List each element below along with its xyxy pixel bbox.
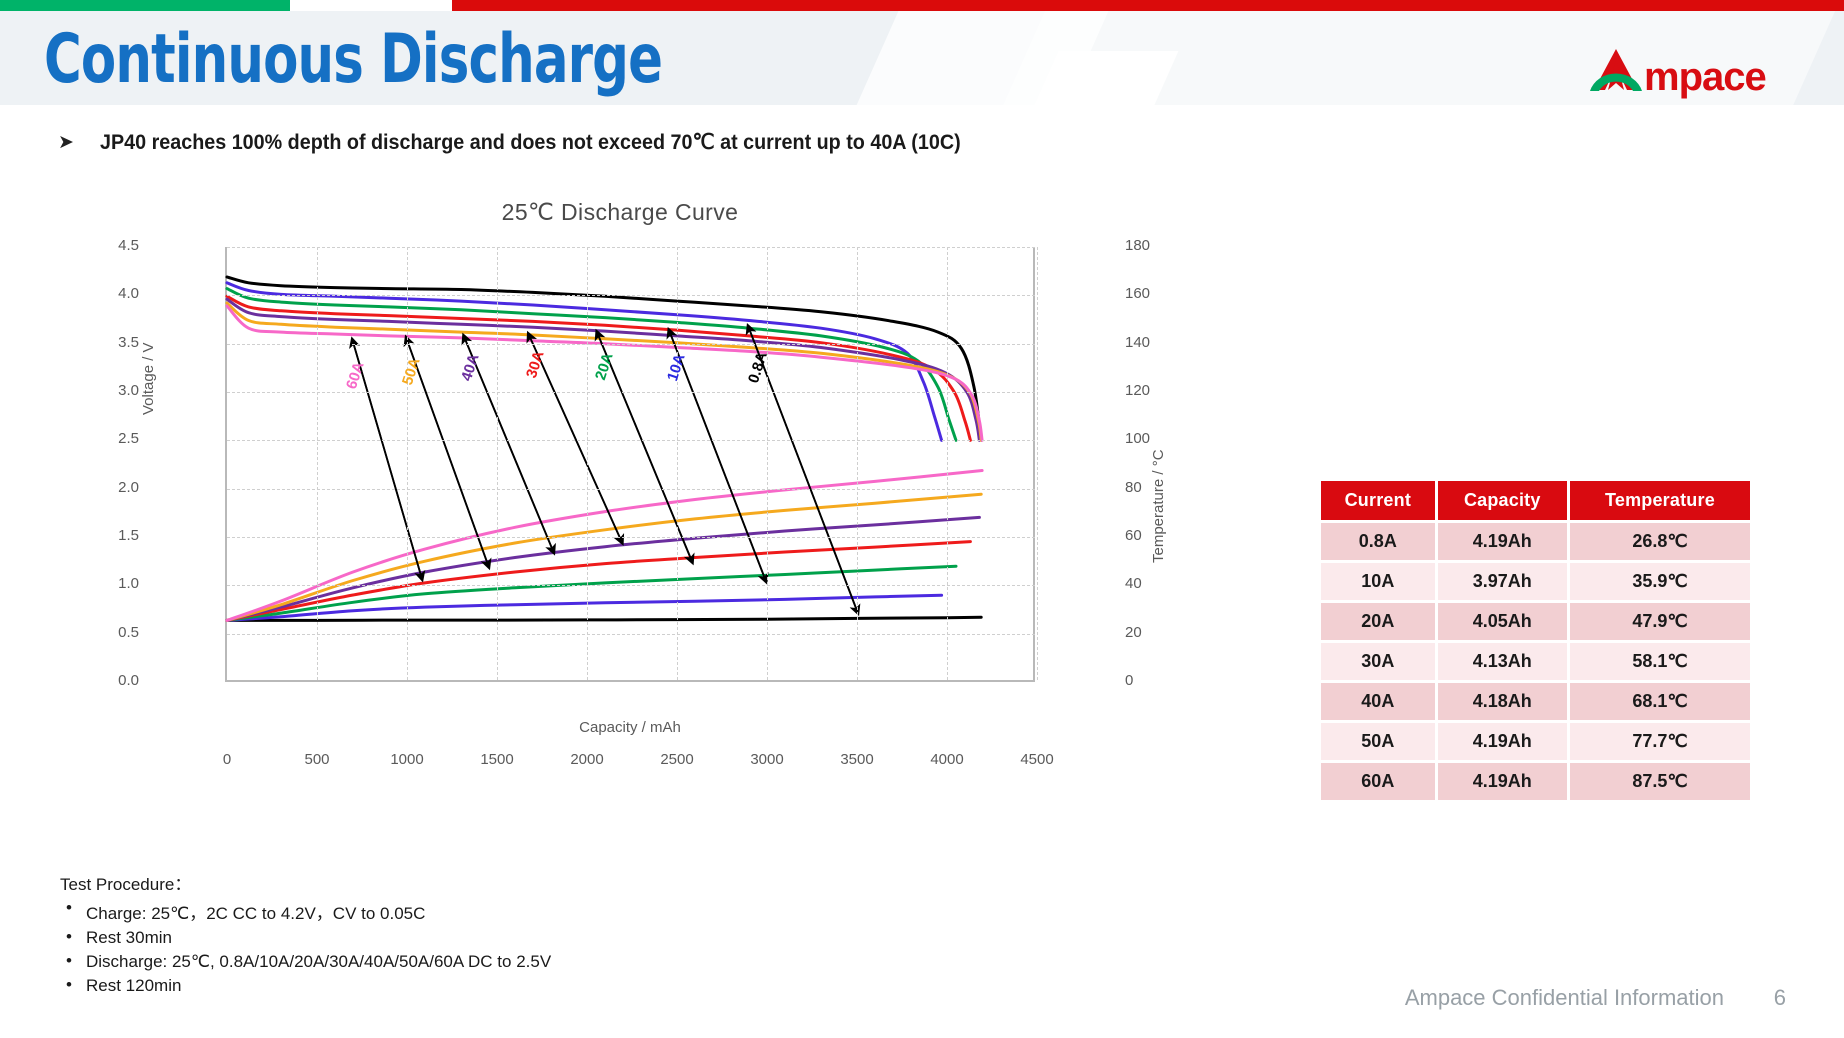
gridline-horizontal xyxy=(227,295,1035,296)
x-axis-tick: 1500 xyxy=(457,751,537,768)
y2-axis-tick: 20 xyxy=(1125,624,1185,641)
gridline-horizontal xyxy=(227,585,1035,586)
table-row: 20A4.05Ah47.9℃ xyxy=(1321,603,1750,640)
gridline-vertical xyxy=(677,247,678,680)
table-cell: 0.8A xyxy=(1321,523,1435,560)
table-cell: 4.05Ah xyxy=(1438,603,1567,640)
y-axis-tick: 2.0 xyxy=(79,479,139,496)
test-procedure-item: Discharge: 25℃, 0.8A/10A/20A/30A/40A/50A… xyxy=(60,952,551,972)
gridline-vertical xyxy=(947,247,948,680)
y2-axis-tick: 160 xyxy=(1125,285,1185,302)
x-axis-tick: 3000 xyxy=(727,751,807,768)
gridline-vertical xyxy=(857,247,858,680)
gridline-vertical xyxy=(587,247,588,680)
page-title: Continuous Discharge xyxy=(44,23,662,97)
band-green xyxy=(0,0,290,11)
y-axis-tick: 3.5 xyxy=(79,334,139,351)
gridline-horizontal xyxy=(227,247,1035,248)
x-axis-tick: 4500 xyxy=(997,751,1077,768)
table-cell: 30A xyxy=(1321,643,1435,680)
test-procedure-title: Test Procedure： xyxy=(60,870,551,895)
test-procedure-item: Rest 120min xyxy=(60,976,551,996)
top-color-bands xyxy=(0,0,1844,11)
table-header-temperature: Temperature xyxy=(1570,481,1750,520)
table-row: 30A4.13Ah58.1℃ xyxy=(1321,643,1750,680)
gridline-horizontal xyxy=(227,634,1035,635)
y-axis-tick: 2.5 xyxy=(79,430,139,447)
table-cell: 4.18Ah xyxy=(1438,683,1567,720)
y-axis-label: Voltage / V xyxy=(140,342,157,415)
table-row: 40A4.18Ah68.1℃ xyxy=(1321,683,1750,720)
table-cell: 68.1℃ xyxy=(1570,683,1750,720)
table-header-current: Current xyxy=(1321,481,1435,520)
gridline-horizontal xyxy=(227,344,1035,345)
x-axis-label: Capacity / mAh xyxy=(225,719,1035,736)
table-cell: 87.5℃ xyxy=(1570,763,1750,800)
bullet-text: JP40 reaches 100% depth of discharge and… xyxy=(100,130,961,155)
table-row: 50A4.19Ah77.7℃ xyxy=(1321,723,1750,760)
summary-table: Current Capacity Temperature 0.8A4.19Ah2… xyxy=(1318,478,1753,803)
table-row: 0.8A4.19Ah26.8℃ xyxy=(1321,523,1750,560)
y-axis-tick: 1.0 xyxy=(79,575,139,592)
table-header-capacity: Capacity xyxy=(1438,481,1567,520)
bullet-arrow-icon: ➤ xyxy=(58,133,74,152)
discharge-chart: 25℃ Discharge Curve 05001000150020002500… xyxy=(150,185,1170,745)
table-cell: 4.13Ah xyxy=(1438,643,1567,680)
y2-axis-tick: 40 xyxy=(1125,575,1185,592)
gridline-vertical xyxy=(317,247,318,680)
gridline-vertical xyxy=(497,247,498,680)
band-red xyxy=(452,0,1844,11)
gridline-vertical xyxy=(767,247,768,680)
table-cell: 35.9℃ xyxy=(1570,563,1750,600)
table-cell: 20A xyxy=(1321,603,1435,640)
chart-title: 25℃ Discharge Curve xyxy=(150,199,1090,226)
chart-annotation-arrows xyxy=(227,247,1037,682)
y-axis-tick: 4.0 xyxy=(79,285,139,302)
y-axis-tick: 4.5 xyxy=(79,237,139,254)
test-procedure-item: Charge: 25℃，2C CC to 4.2V，CV to 0.05C xyxy=(60,899,551,924)
ampace-logo: mpace xyxy=(1586,43,1786,101)
bullet-row: ➤ JP40 reaches 100% depth of discharge a… xyxy=(58,126,1258,158)
y2-axis-tick: 180 xyxy=(1125,237,1185,254)
x-axis-tick: 2500 xyxy=(637,751,717,768)
chart-plot-area: 0500100015002000250030003500400045000.00… xyxy=(225,247,1035,682)
test-procedure: Test Procedure： Charge: 25℃，2C CC to 4.2… xyxy=(60,870,551,1000)
table-cell: 60A xyxy=(1321,763,1435,800)
x-axis-tick: 500 xyxy=(277,751,357,768)
gridline-horizontal xyxy=(227,440,1035,441)
gridline-horizontal xyxy=(227,537,1035,538)
table-cell: 10A xyxy=(1321,563,1435,600)
y2-axis-label: Temperature / °C xyxy=(1150,449,1167,563)
table-cell: 4.19Ah xyxy=(1438,763,1567,800)
footer-confidential: Ampace Confidential Information xyxy=(1405,985,1724,1011)
table-cell: 4.19Ah xyxy=(1438,523,1567,560)
table-cell: 26.8℃ xyxy=(1570,523,1750,560)
table-row: 60A4.19Ah87.5℃ xyxy=(1321,763,1750,800)
y-axis-tick: 1.5 xyxy=(79,527,139,544)
table-cell: 40A xyxy=(1321,683,1435,720)
gridline-horizontal xyxy=(227,392,1035,393)
y-axis-tick: 0.5 xyxy=(79,624,139,641)
x-axis-tick: 1000 xyxy=(367,751,447,768)
x-axis-tick: 2000 xyxy=(547,751,627,768)
table-row: 10A3.97Ah35.9℃ xyxy=(1321,563,1750,600)
svg-text:mpace: mpace xyxy=(1644,55,1766,99)
y-axis-tick: 0.0 xyxy=(79,672,139,689)
table-cell: 47.9℃ xyxy=(1570,603,1750,640)
table-cell: 77.7℃ xyxy=(1570,723,1750,760)
x-axis-tick: 4000 xyxy=(907,751,987,768)
y-axis-tick: 3.0 xyxy=(79,382,139,399)
table-cell: 3.97Ah xyxy=(1438,563,1567,600)
ampace-logo-icon: mpace xyxy=(1586,43,1786,101)
y2-axis-tick: 100 xyxy=(1125,430,1185,447)
test-procedure-list: Charge: 25℃，2C CC to 4.2V，CV to 0.05CRes… xyxy=(60,899,551,996)
table-cell: 50A xyxy=(1321,723,1435,760)
test-procedure-item: Rest 30min xyxy=(60,928,551,948)
y2-axis-tick: 0 xyxy=(1125,672,1185,689)
table-cell: 4.19Ah xyxy=(1438,723,1567,760)
x-axis-tick: 0 xyxy=(187,751,267,768)
slide-header: Continuous Discharge mpace xyxy=(0,11,1844,105)
y2-axis-tick: 120 xyxy=(1125,382,1185,399)
footer-page-number: 6 xyxy=(1774,985,1786,1011)
gridline-horizontal xyxy=(227,489,1035,490)
table-header-row: Current Capacity Temperature xyxy=(1321,481,1750,520)
y2-axis-tick: 140 xyxy=(1125,334,1185,351)
table-cell: 58.1℃ xyxy=(1570,643,1750,680)
gridline-vertical xyxy=(1037,247,1038,680)
gridline-vertical xyxy=(407,247,408,680)
x-axis-tick: 3500 xyxy=(817,751,897,768)
